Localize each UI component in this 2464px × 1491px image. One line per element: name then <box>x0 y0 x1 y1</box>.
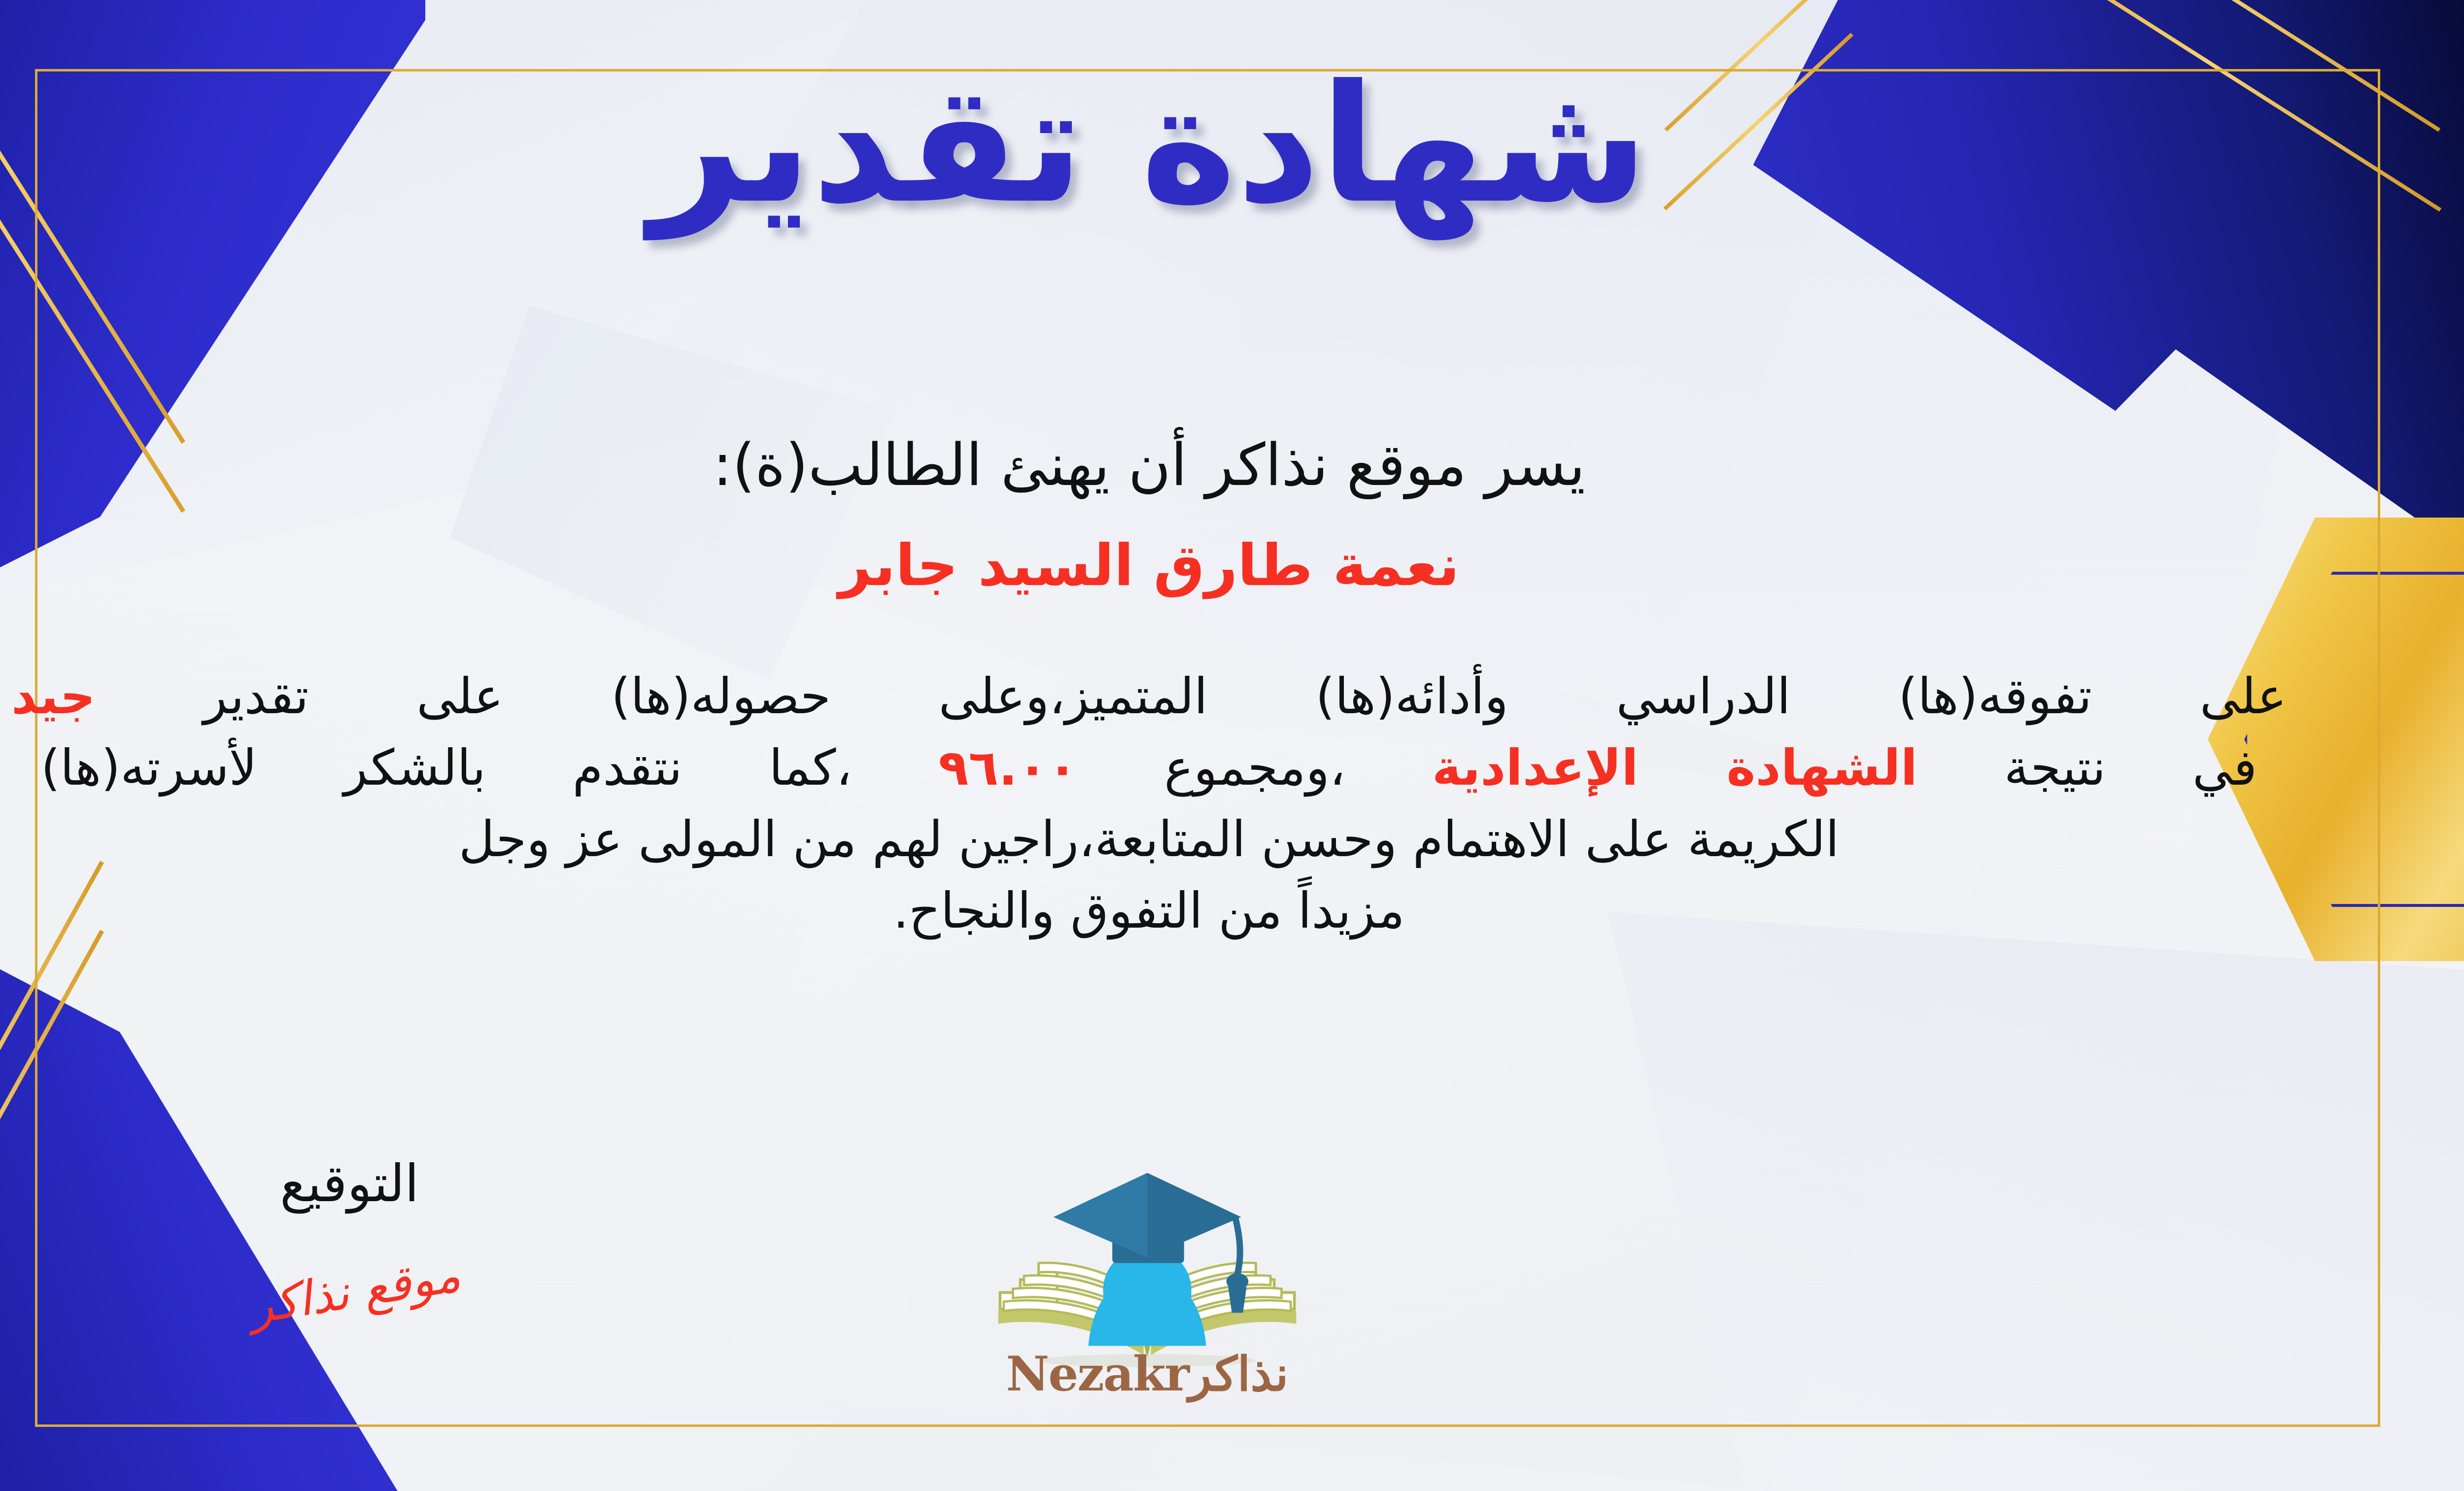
signature-mark: موقع نذاكر <box>245 1247 464 1335</box>
certificate-page: شهادة تقدير يسر موقع نذاكر أن يهنئ الطال… <box>0 0 2464 1491</box>
certificate-title: شهادة تقدير <box>0 63 2464 226</box>
certificate-type-value: الشهادة الإعدادية <box>1432 739 1917 797</box>
total-score-value: ٩٦.٠٠ <box>938 739 1077 797</box>
greeting-line: يسر موقع نذاكر أن يهنئ الطالب(ة): <box>0 429 2464 502</box>
body-line-2-middle: ،ومجموع <box>1164 739 1345 797</box>
body-line-1-text: على تفوقه(ها) الدراسي وأدائه(ها) المتميز… <box>204 667 2287 725</box>
certificate-content: شهادة تقدير يسر موقع نذاكر أن يهنئ الطال… <box>0 0 2464 1491</box>
body-line-4: مزيداً من التفوق والنجاح. <box>0 875 2316 946</box>
logo-brand-text: Nezakrنذاكر <box>960 1346 1335 1402</box>
grade-value: جيد <box>11 667 96 725</box>
student-name: نعمة طارق السيد جابر <box>0 532 2464 599</box>
body-line-2: في نتيجة الشهادة الإعدادية ،ومجموع ٩٦.٠٠… <box>0 732 2316 803</box>
body-line-2-prefix: في نتيجة <box>2004 739 2257 797</box>
signature-label: التوقيع <box>280 1153 419 1214</box>
body-line-2-suffix: ،كما نتقدم بالشكر لأسرته(ها) <box>41 739 852 797</box>
body-line-3: الكريمة على الاهتمام وحسن المتابعة،راجين… <box>0 803 2316 875</box>
body-line-1: على تفوقه(ها) الدراسي وأدائه(ها) المتميز… <box>0 660 2316 732</box>
nezakr-logo: Nezakrنذاكر <box>960 1129 1335 1405</box>
certificate-body: على تفوقه(ها) الدراسي وأدائه(ها) المتميز… <box>0 660 2316 946</box>
